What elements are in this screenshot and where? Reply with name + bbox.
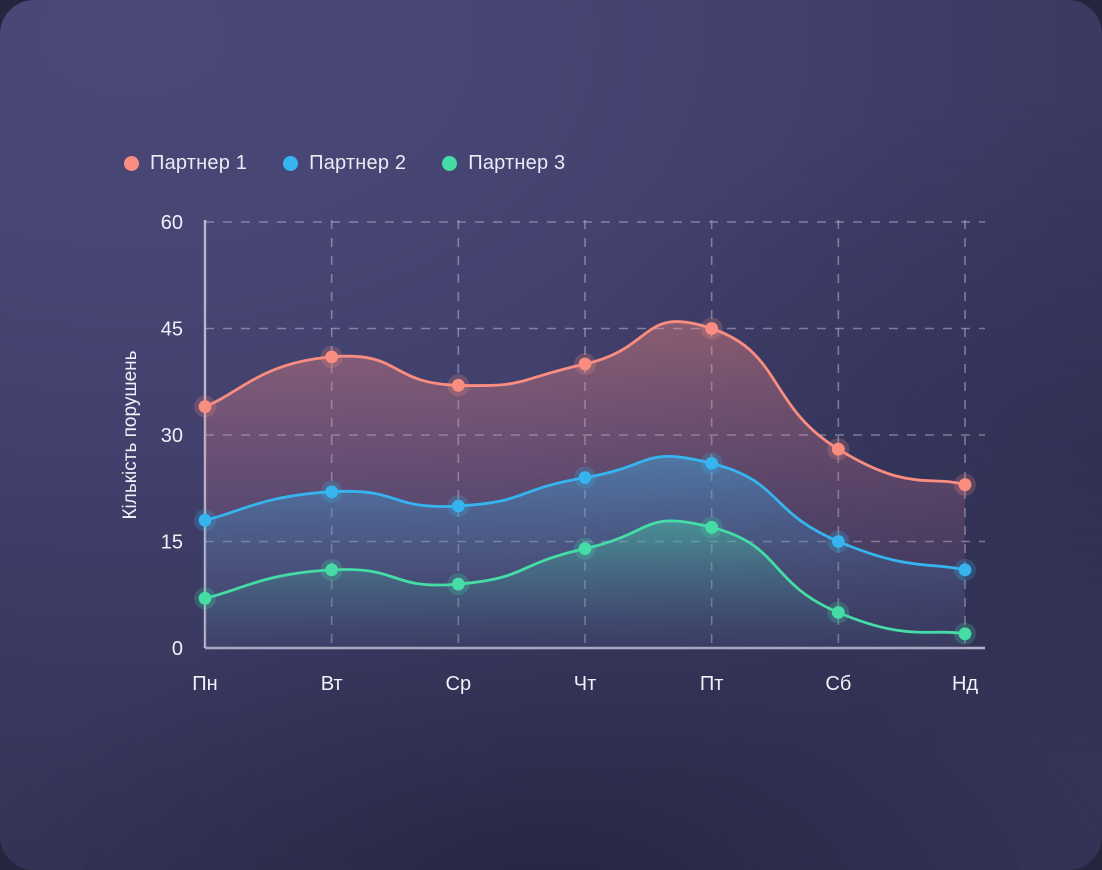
legend-item-label: Партнер 2 [309, 152, 406, 175]
chart-legend: Партнер 1 Партнер 2 Партнер 3 [124, 152, 565, 175]
legend-item-label: Партнер 1 [150, 152, 247, 175]
data-point-marker[interactable] [832, 606, 845, 619]
data-point-marker[interactable] [832, 443, 845, 456]
legend-item-0[interactable]: Партнер 1 [124, 152, 247, 175]
y-axis-tick-label: 30 [161, 425, 183, 447]
data-point-marker[interactable] [705, 322, 718, 335]
data-point-marker[interactable] [199, 514, 212, 527]
data-point-marker[interactable] [579, 542, 592, 555]
y-axis-tick-label: 45 [161, 319, 183, 341]
y-axis-title: Кількість порушень [120, 350, 141, 519]
data-point-marker[interactable] [452, 379, 465, 392]
legend-item-2[interactable]: Партнер 3 [442, 152, 565, 175]
legend-color-dot-icon [124, 156, 139, 171]
data-point-marker[interactable] [199, 592, 212, 605]
y-axis-tick-label: 0 [172, 638, 183, 660]
screenshot-stage: Партнер 1 Партнер 2 Партнер 3 [0, 0, 1102, 870]
data-point-marker[interactable] [452, 500, 465, 513]
x-axis-tick-label: Ср [446, 673, 472, 695]
legend-color-dot-icon [442, 156, 457, 171]
y-axis-tick-label: 15 [161, 532, 183, 554]
data-point-marker[interactable] [325, 485, 338, 498]
x-axis-tick-label: Вт [321, 673, 343, 695]
legend-color-dot-icon [283, 156, 298, 171]
data-point-marker[interactable] [959, 478, 972, 491]
y-axis-tick-label: 60 [161, 212, 183, 234]
data-point-marker[interactable] [452, 578, 465, 591]
x-axis-tick-label: Сб [825, 673, 851, 695]
legend-item-1[interactable]: Партнер 2 [283, 152, 406, 175]
legend-item-label: Партнер 3 [468, 152, 565, 175]
plot-area: 015304560ПнВтСрЧтПтСбНдКількість порушен… [0, 0, 1102, 870]
x-axis-tick-label: Пн [192, 673, 217, 695]
data-point-marker[interactable] [199, 400, 212, 413]
data-point-marker[interactable] [705, 457, 718, 470]
chart-card: Партнер 1 Партнер 2 Партнер 3 [0, 0, 1102, 870]
line-chart-svg: 015304560ПнВтСрЧтПтСбНдКількість порушен… [0, 0, 1102, 870]
data-point-marker[interactable] [325, 564, 338, 577]
data-point-marker[interactable] [579, 358, 592, 371]
data-point-marker[interactable] [325, 351, 338, 364]
x-axis-tick-label: Нд [952, 673, 978, 695]
data-point-marker[interactable] [705, 521, 718, 534]
x-axis-tick-label: Чт [574, 673, 597, 695]
data-point-marker[interactable] [959, 564, 972, 577]
data-point-marker[interactable] [832, 535, 845, 548]
x-axis-tick-label: Пт [700, 673, 724, 695]
data-point-marker[interactable] [579, 471, 592, 484]
data-point-marker[interactable] [959, 627, 972, 640]
